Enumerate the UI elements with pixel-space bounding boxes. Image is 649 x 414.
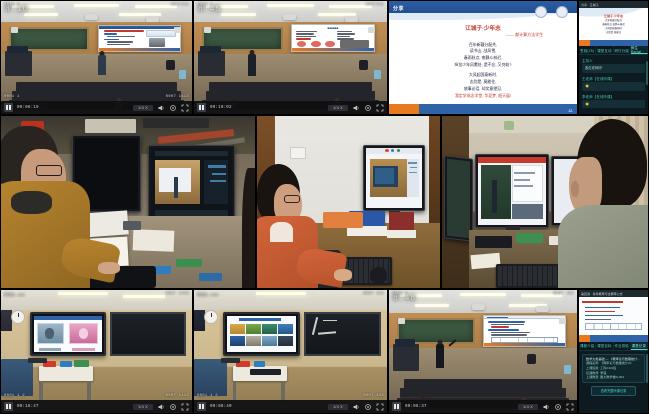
poem-line: 大风起国泰新时, [389, 72, 577, 78]
monitor-right-content [151, 148, 231, 219]
trash-bin [179, 70, 186, 79]
podium [5, 51, 32, 76]
chat-message: 王老师【在线听课】 👏 [582, 76, 645, 91]
overlay-top-left: 001A 1 [392, 292, 408, 296]
slide-content [484, 316, 565, 346]
player-controls[interactable]: 00:06:37 1/4 X [389, 400, 577, 413]
overlay-bottom-right: 0007 1413 [166, 394, 189, 398]
poem-line: 志别是, 莫能往, [389, 79, 577, 85]
chat-text: 各位老师好! [582, 64, 645, 73]
poem-line: 纵览少年风鹰处, 是不忘, 又何妨? [389, 62, 577, 68]
overlay-top-left: 001A 1 [197, 3, 213, 7]
wall-clock [204, 310, 218, 324]
hall-scene-a: 8:10 001A 1 0007415 0001 1 0007 1413 [1, 1, 192, 114]
video-wall: 8:10 001A 1 0007415 0001 1 0007 1413 00:… [0, 0, 649, 414]
poem-line: 读书山, 战风雪, [389, 48, 577, 54]
fullscreen-icon[interactable] [181, 104, 189, 112]
chair [359, 60, 368, 70]
volume-icon[interactable] [352, 403, 360, 411]
tab-class-interaction[interactable]: 课堂互动 [596, 46, 613, 54]
volume-icon[interactable] [157, 403, 165, 411]
tab-class-goals[interactable]: 课堂目标 [596, 342, 613, 350]
gear-icon[interactable] [364, 104, 372, 112]
wall-camera-icon [559, 318, 566, 324]
preview-header: 分享 · 江城子 [579, 1, 648, 8]
preview-label: 第四讲 · 条件概率与全概率公式 [581, 292, 623, 296]
projector-icon [472, 304, 485, 310]
slide-content [99, 26, 179, 51]
player-controls[interactable]: 00:06:19 1/4 X [1, 101, 192, 114]
course-record-body[interactable]: 数学大类基础 — 《概率论与数理统计A》听课记录... 课程名称: 《概率论与数… [579, 351, 648, 413]
panel-observer-desk-cam-c[interactable] [441, 115, 649, 289]
record-row: 上课教室: 国大教学楼D-203 [586, 375, 641, 380]
chat-author: 王老师【在线听课】 [582, 76, 645, 81]
chat-text: 👏 [582, 82, 645, 91]
classroom-scene-c: 教室B-201 0007 1413 0001 1 2 0007 1413 [1, 290, 192, 413]
panel-lecture-hall-cam-a[interactable]: 8:10 001A 1 0007415 0001 1 0007 1413 00:… [0, 0, 193, 115]
workbench-scene [1, 116, 255, 288]
overlay-bottom-right: 0007 415 [363, 394, 384, 398]
poem-line: 旅事论话, 却笑意望见, [389, 86, 577, 92]
speed-chip[interactable]: 1/4 X [133, 404, 153, 410]
poem-line: 百年新疆分配共, [389, 42, 577, 48]
overlay-bottom-left: 0001 1 [4, 95, 20, 99]
chat-tabs[interactable]: 签到(25) 课堂互动 研讨分组 师生Social [579, 46, 648, 55]
overlay-top-right: 0007 415 [553, 292, 574, 296]
chat-message-list[interactable]: 主持人 各位老师好! 王老师【在线听课】 👏 李老师【在线听课】 👏 [579, 55, 648, 114]
tab-course-intro[interactable]: 课程介绍 [579, 342, 596, 350]
video-wall-row-top: 8:10 001A 1 0007415 0001 1 0007 1413 00:… [0, 0, 649, 115]
preview-header: 第四讲 · 条件概率与全概率公式 [579, 290, 648, 297]
projector-icon [536, 306, 549, 312]
wall-camera-icon [368, 27, 375, 33]
ceiling [194, 1, 387, 22]
speed-chip[interactable]: 1/4 X [328, 404, 348, 410]
monitor [363, 145, 425, 210]
projector-icon [345, 16, 358, 22]
panel-classroom-cam-c[interactable]: 教室B-201 0007 1413 0001 1 2 0007 1413 00:… [0, 289, 193, 414]
overlay-top-left: 教室B-201 [4, 292, 25, 298]
chat-message: 李老师【在线听课】 👏 [582, 94, 645, 109]
video-wall-row-middle [0, 115, 649, 289]
chat-panel: 分享 · 江城子 江城子·少年志 百年新疆分配共春雨秋点 夜静斗林迟大风起国泰新… [579, 1, 648, 114]
poem-line: 我定学成志学堂, 华夏梦, 韶天展! [389, 93, 577, 99]
panel-interaction-chat[interactable]: 分享 · 江城子 江城子·少年志 百年新疆分配共春雨秋点 夜静斗林迟大风起国泰新… [578, 0, 649, 115]
panel-lecture-hall-cam-e[interactable]: 8:48 001A 1 0007 415 00:06:37 1/4 X [388, 289, 578, 414]
tab-homework-quiz[interactable]: 作业测验 [614, 342, 631, 350]
gear-icon[interactable] [554, 403, 562, 411]
course-tabs[interactable]: 课程介绍 课堂目标 作业测验 课堂记录 [579, 342, 648, 351]
chat-scrollbar[interactable] [646, 55, 648, 114]
panel-classroom-cam-d[interactable]: 教室B-203 0007 415 0001 1 2 0007 415 00:08… [193, 289, 388, 414]
speed-chip[interactable]: 1/4 X [518, 404, 538, 410]
office-scene-c [442, 116, 648, 288]
fullscreen-icon[interactable] [376, 403, 384, 411]
hall-scene-e: 8:48 001A 1 0007 415 [389, 290, 577, 413]
wall-camera-icon [204, 27, 211, 33]
overlay-bottom-left: 0001 1 2 [4, 394, 25, 398]
view-full-record-button[interactable]: 查看完整听课记录 [591, 386, 635, 396]
record-scrollbar[interactable] [646, 351, 648, 413]
hall-scene-b: ■■■■■■ [194, 1, 387, 114]
gear-icon[interactable] [169, 104, 177, 112]
chair [166, 60, 175, 70]
slide-header-tag: 分享 [393, 5, 404, 12]
wall-camera-icon [174, 27, 181, 33]
timecode: 00:10:02 [210, 106, 232, 110]
tab-social[interactable]: 师生Social [631, 46, 648, 54]
volume-icon[interactable] [542, 403, 550, 411]
pause-button[interactable] [4, 103, 13, 112]
panel-observer-desk-cam-a[interactable] [0, 115, 256, 289]
fullscreen-icon[interactable] [376, 104, 384, 112]
fullscreen-icon[interactable] [181, 403, 189, 411]
poem-line: 春雨秋点, 夜静斗林迟, [389, 55, 577, 61]
trash-bin [194, 339, 203, 350]
monitor-content [366, 148, 422, 207]
wall-camera-icon [11, 27, 18, 33]
overlay-top-left: 教室B-203 [197, 292, 218, 298]
gear-icon[interactable] [364, 403, 372, 411]
panel-lecture-hall-cam-b[interactable]: ■■■■■■ [193, 0, 388, 115]
overlay-bottom-left: 0001 1 2 [197, 394, 218, 398]
overlay-top-right: 0007415 [171, 3, 189, 7]
tab-signin[interactable]: 签到(25) [579, 46, 596, 54]
timecode: 00:06:37 [405, 405, 427, 409]
trash-bin [1, 339, 10, 350]
chat-author: 李老师【在线听课】 [582, 94, 645, 99]
overlay-top-right: 0007 1413 [166, 292, 189, 296]
monitor-right [148, 145, 234, 222]
wall-camera-icon [398, 318, 405, 324]
monitor-main [475, 154, 549, 228]
projection-screen [483, 315, 566, 347]
slide-page-number: -32- [568, 109, 574, 113]
slide-footer [389, 104, 577, 114]
pause-button[interactable] [197, 103, 206, 112]
projector-icon [283, 14, 296, 20]
projection-screen: ■■■■■■ [291, 24, 376, 52]
pause-button[interactable] [197, 402, 206, 411]
poem-subtitle: —— 献计算方法学生 [506, 32, 543, 38]
timecode: 00:18:47 [17, 405, 39, 409]
volume-icon[interactable] [157, 104, 165, 112]
volume-icon[interactable] [352, 104, 360, 112]
podium [198, 51, 225, 76]
slide-preview[interactable]: 第四讲 · 条件概率与全概率公式 [579, 290, 648, 342]
ppt-slide: 分享 江城子·少年志 —— 献计算方法学生 百年新疆分配共, 读书山, 战风雪,… [389, 1, 577, 114]
timecode: 00:08:40 [210, 405, 232, 409]
overlay-top-right: 0007 415 [363, 292, 384, 296]
university-logo-icon [535, 6, 547, 18]
preview-label: 分享 · 江城子 [581, 3, 599, 7]
speed-chip[interactable]: 1/4 X [328, 105, 348, 111]
slide-content: ■■■■■■ [292, 25, 375, 51]
player-controls[interactable]: 00:18:47 1/4 X [1, 400, 192, 413]
speed-chip[interactable]: 1/4 X [133, 105, 153, 111]
projector-icon [85, 14, 98, 20]
panel-observer-desk-cam-b[interactable] [256, 115, 441, 289]
projection-screen [98, 25, 180, 52]
pause-button[interactable] [4, 402, 13, 411]
chat-text: 👏 [582, 100, 645, 109]
player-controls[interactable]: 00:10:02 1/4 X [194, 101, 387, 114]
trash-bin [374, 70, 381, 79]
panel-course-info[interactable]: 第四讲 · 条件概率与全概率公式 课程介绍 课堂目标 作业测验 课堂记录 [578, 289, 649, 414]
office-scene-b [257, 116, 440, 288]
fullscreen-icon[interactable] [566, 403, 574, 411]
observer-figure [566, 116, 649, 288]
tab-class-record[interactable]: 课堂记录 [631, 342, 648, 350]
ceiling [389, 290, 577, 313]
video-wall-row-bottom: 教室B-201 0007 1413 0001 1 2 0007 1413 00:… [0, 289, 649, 414]
chat-author: 主持人 [582, 58, 645, 63]
projector-icon [146, 16, 159, 22]
player-controls[interactable]: 00:08:40 1/4 X [194, 400, 387, 413]
pause-button[interactable] [392, 402, 401, 411]
wall-clock [11, 310, 25, 324]
department-logo-icon [556, 6, 568, 18]
course-record-card: 数学大类基础 — 《概率论与数理统计A》听课记录... 课程名称: 《概率论与数… [582, 354, 645, 383]
timecode: 00:06:19 [17, 106, 39, 110]
panel-ppt-share[interactable]: 分享 江城子·少年志 —— 献计算方法学生 百年新疆分配共, 读书山, 战风雪,… [388, 0, 578, 115]
gear-icon[interactable] [169, 403, 177, 411]
ceiling [1, 1, 192, 22]
overlay-top-right: 0007415 [366, 3, 384, 7]
poem-title: 江城子·少年志 [389, 24, 577, 32]
chat-message: 主持人 各位老师好! [582, 58, 645, 73]
overlay-bottom-right: 0007 1413 [166, 95, 189, 99]
monitor-main-content [478, 157, 546, 225]
classroom-scene-d: 教室B-203 0007 415 0001 1 2 0007 415 [194, 290, 387, 413]
shared-slide-preview[interactable]: 分享 · 江城子 江城子·少年志 百年新疆分配共春雨秋点 夜静斗林迟大风起国泰新… [579, 1, 648, 46]
trash-bin [564, 365, 571, 374]
chair [527, 354, 536, 364]
overlay-top-left: 001A 1 [4, 3, 20, 7]
course-info-panel: 第四讲 · 条件概率与全概率公式 课程介绍 课堂目标 作业测验 课堂记录 [579, 290, 648, 413]
podium [393, 344, 419, 371]
tab-discussion-groups[interactable]: 研讨分组 [614, 46, 631, 54]
